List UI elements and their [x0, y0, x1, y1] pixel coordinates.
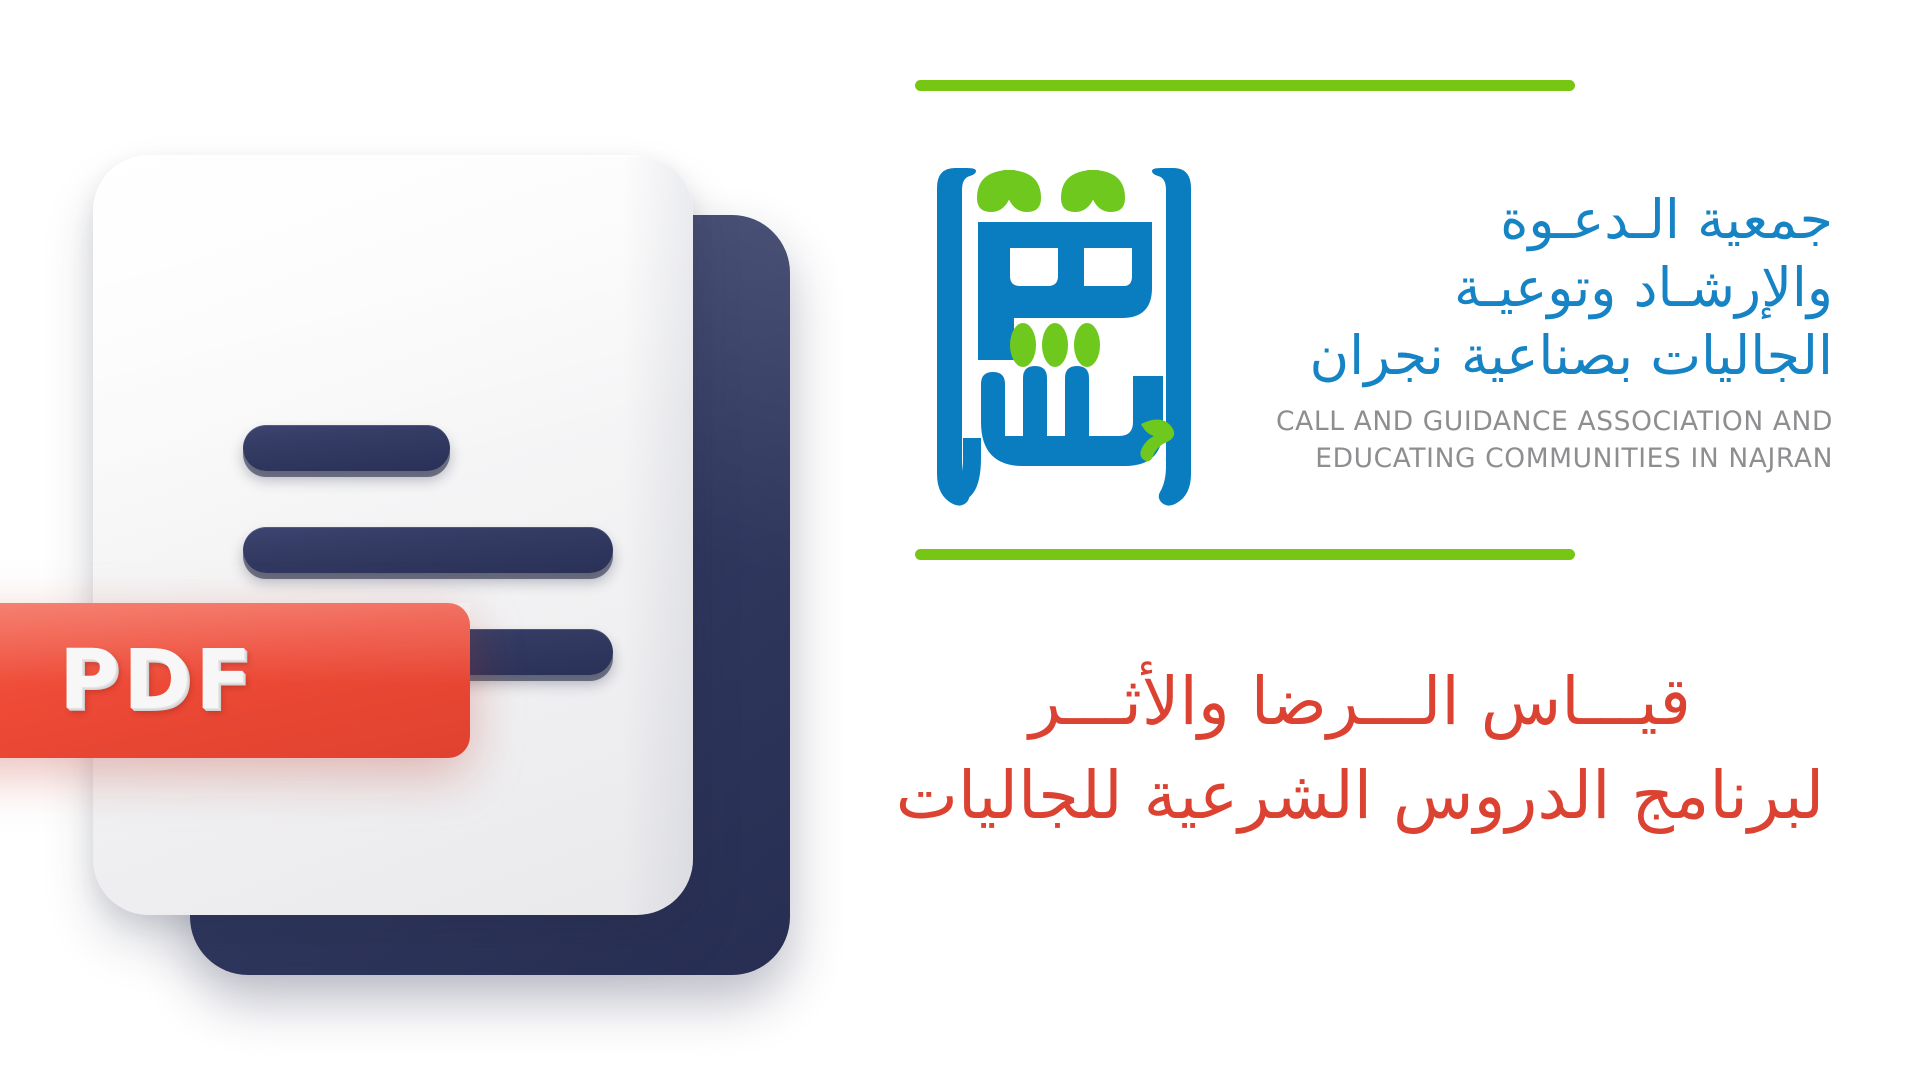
wordmark-english-line-2: EDUCATING COMMUNITIES IN NAJRAN	[1243, 441, 1833, 478]
wordmark-english-caption: CALL AND GUIDANCE ASSOCIATION AND EDUCAT…	[1243, 404, 1833, 477]
divider-line-bottom	[915, 549, 1575, 560]
wordmark-arabic-line-2: والإرشـاد وتوعيـة	[1243, 254, 1833, 322]
document-title-line-2: لبرنامج الدروس الشرعية للجاليات	[860, 749, 1860, 843]
document-title: قيـــاس الـــرضا والأثـــر لبرنامج الدرو…	[860, 655, 1860, 842]
divider-line-top	[915, 80, 1575, 91]
document-front-sheet	[93, 155, 693, 915]
pdf-file-icon[interactable]: PDF	[0, 60, 820, 1020]
wordmark-arabic-line-3: الجاليات بصناعية نجران	[1243, 322, 1833, 390]
logo-and-wordmark: جمعية الـدعـوة والإرشـاد وتوعيـة الجاليا…	[915, 132, 1850, 532]
wordmark-arabic-line-1: جمعية الـدعـوة	[1243, 186, 1833, 254]
pdf-format-ribbon: PDF	[0, 603, 470, 758]
wordmark-english-line-1: CALL AND GUIDANCE ASSOCIATION AND	[1243, 404, 1833, 441]
document-title-line-1: قيـــاس الـــرضا والأثـــر	[860, 655, 1860, 749]
document-text-bar-1	[243, 425, 450, 471]
association-wordmark: جمعية الـدعـوة والإرشـاد وتوعيـة الجاليا…	[1243, 186, 1833, 477]
iqra-calligraphy-logo-icon	[915, 152, 1215, 512]
document-text-bar-2	[243, 527, 613, 573]
pdf-label: PDF	[59, 640, 255, 722]
poster-canvas: PDF	[0, 0, 1920, 1080]
association-logo-block: جمعية الـدعـوة والإرشـاد وتوعيـة الجاليا…	[915, 70, 1850, 570]
